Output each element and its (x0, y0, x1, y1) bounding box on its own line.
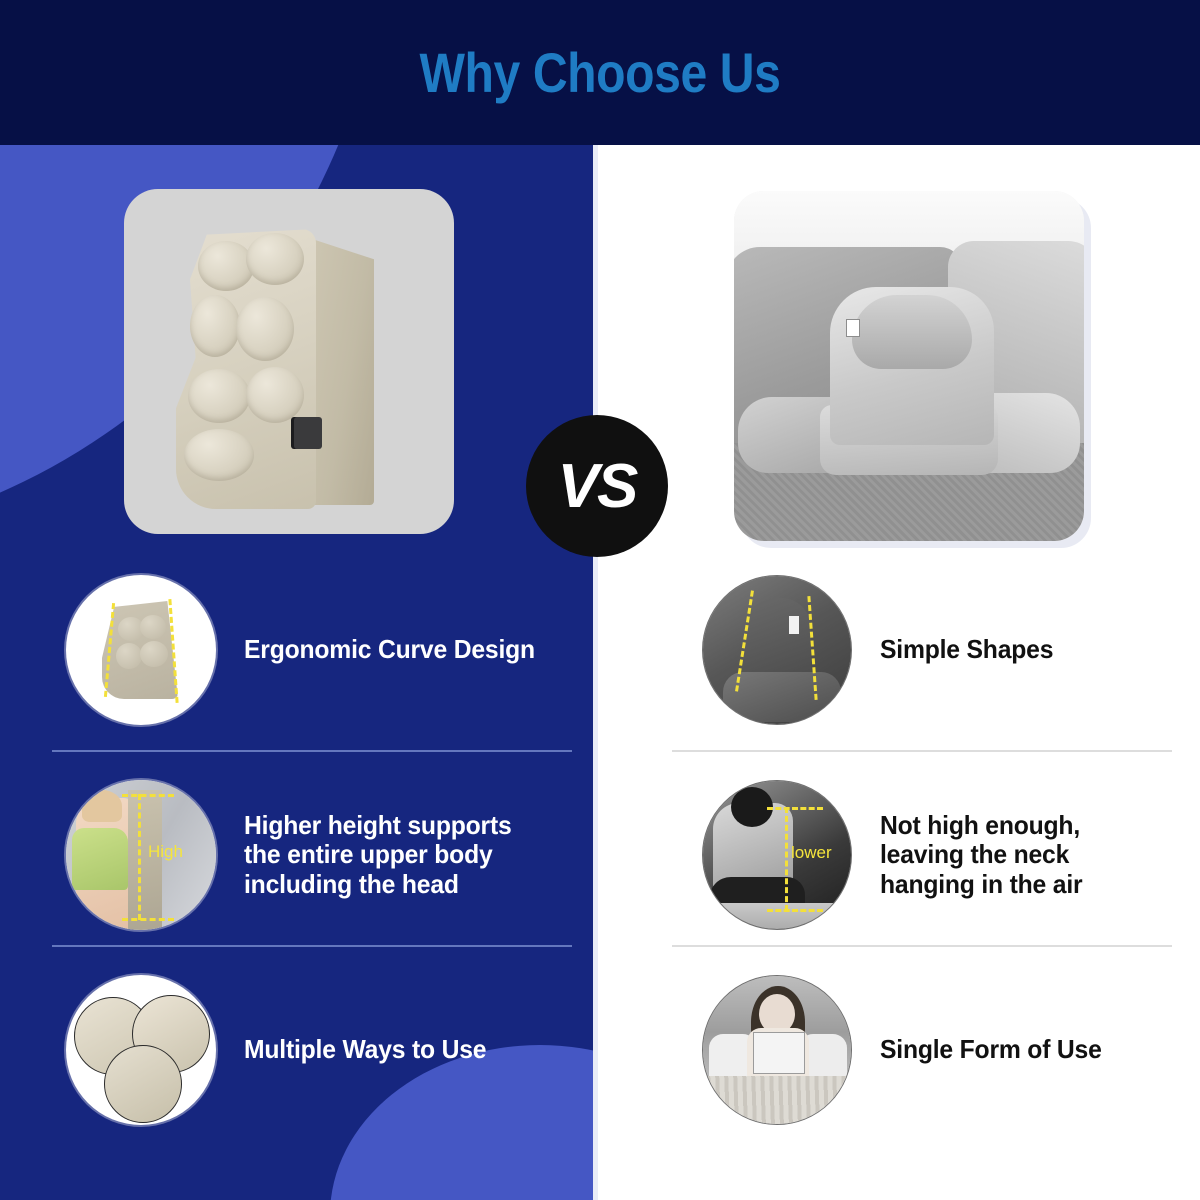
hero-image-our-product (124, 189, 454, 534)
feature-label: Higher height supports the entire upper … (244, 811, 550, 898)
thumb-art: lower (703, 781, 851, 929)
use-case-circle (104, 1045, 182, 1123)
pillow-tuft (236, 297, 294, 361)
height-marker-top (767, 807, 823, 810)
vs-label: VS (558, 451, 637, 522)
book (753, 1032, 805, 1074)
height-marker-bottom (767, 909, 823, 912)
feature-row-higher-height: High Higher height supports the entire u… (66, 780, 566, 930)
thumb-art (66, 975, 216, 1125)
bed-surface (703, 903, 852, 930)
height-marker-vertical (785, 807, 788, 911)
feature-thumb-not-high-enough: lower (702, 780, 852, 930)
pillow-tuft (140, 641, 168, 667)
page-title: Why Choose Us (84, 0, 1116, 145)
feature-thumb-multiple-ways (66, 975, 216, 1125)
feature-label: Ergonomic Curve Design (244, 635, 535, 664)
height-marker-top (122, 794, 174, 797)
feature-row-simple-shapes: Simple Shapes (702, 575, 1182, 725)
reading-pillow-fold (852, 295, 972, 369)
divider (52, 945, 572, 947)
pillow-tuft (140, 615, 166, 639)
reading-pillow-tag (846, 319, 860, 337)
vs-badge: VS (526, 415, 668, 557)
measure-label: lower (791, 843, 832, 863)
blanket (703, 1076, 852, 1125)
pillow-tuft (198, 241, 254, 291)
feature-thumb-single-form (702, 975, 852, 1125)
feature-thumb-simple-shapes (702, 575, 852, 725)
competitor-pillow-illustration (734, 191, 1084, 541)
feature-row-multiple-ways: Multiple Ways to Use (66, 975, 566, 1125)
pillow-tuft (246, 233, 304, 285)
hero-image-competitor (734, 191, 1084, 541)
thumb-art (703, 976, 851, 1124)
feature-thumb-higher-height: High (66, 780, 216, 930)
thumb-art (703, 576, 851, 724)
divider (52, 750, 572, 752)
thumb-art (66, 575, 216, 725)
pillow-tuft (116, 643, 142, 669)
height-marker-vertical (138, 794, 141, 920)
feature-row-ergonomic-curve: Ergonomic Curve Design (66, 575, 566, 725)
feature-label: Single Form of Use (880, 1035, 1102, 1064)
feature-row-not-high-enough: lower Not high enough, leaving the neck … (702, 780, 1182, 930)
feature-row-single-form: Single Form of Use (702, 975, 1182, 1125)
feature-label: Simple Shapes (880, 635, 1053, 664)
competitor-pillow-base (723, 672, 841, 722)
feature-label: Not high enough, leaving the neck hangin… (880, 811, 1167, 898)
thumb-art: High (66, 780, 216, 930)
panel-our-product: Ergonomic Curve Design (0, 145, 593, 1200)
feature-label: Multiple Ways to Use (244, 1035, 486, 1064)
wedge-pillow-illustration (124, 189, 454, 534)
why-choose-us-comparison-poster: Why Choose Us (0, 0, 1200, 1200)
pillow-tuft (246, 367, 304, 423)
panel-competitor: Simple Shapes (598, 145, 1200, 1200)
pillow-tuft (190, 295, 240, 357)
feature-thumb-ergonomic-curve (66, 575, 216, 725)
person-hair (82, 790, 122, 822)
divider (672, 750, 1172, 752)
height-marker-bottom (122, 918, 174, 921)
measure-label: High (148, 842, 183, 862)
pillow-tuft (188, 369, 250, 423)
pillow-tag (789, 616, 799, 634)
poster-header: Why Choose Us (0, 0, 1200, 145)
divider (672, 945, 1172, 947)
pillow-tuft (184, 429, 254, 481)
person-shirt (72, 828, 128, 890)
comparison-panels: Ergonomic Curve Design (0, 145, 1200, 1200)
pillow-brand-tag (294, 417, 322, 449)
